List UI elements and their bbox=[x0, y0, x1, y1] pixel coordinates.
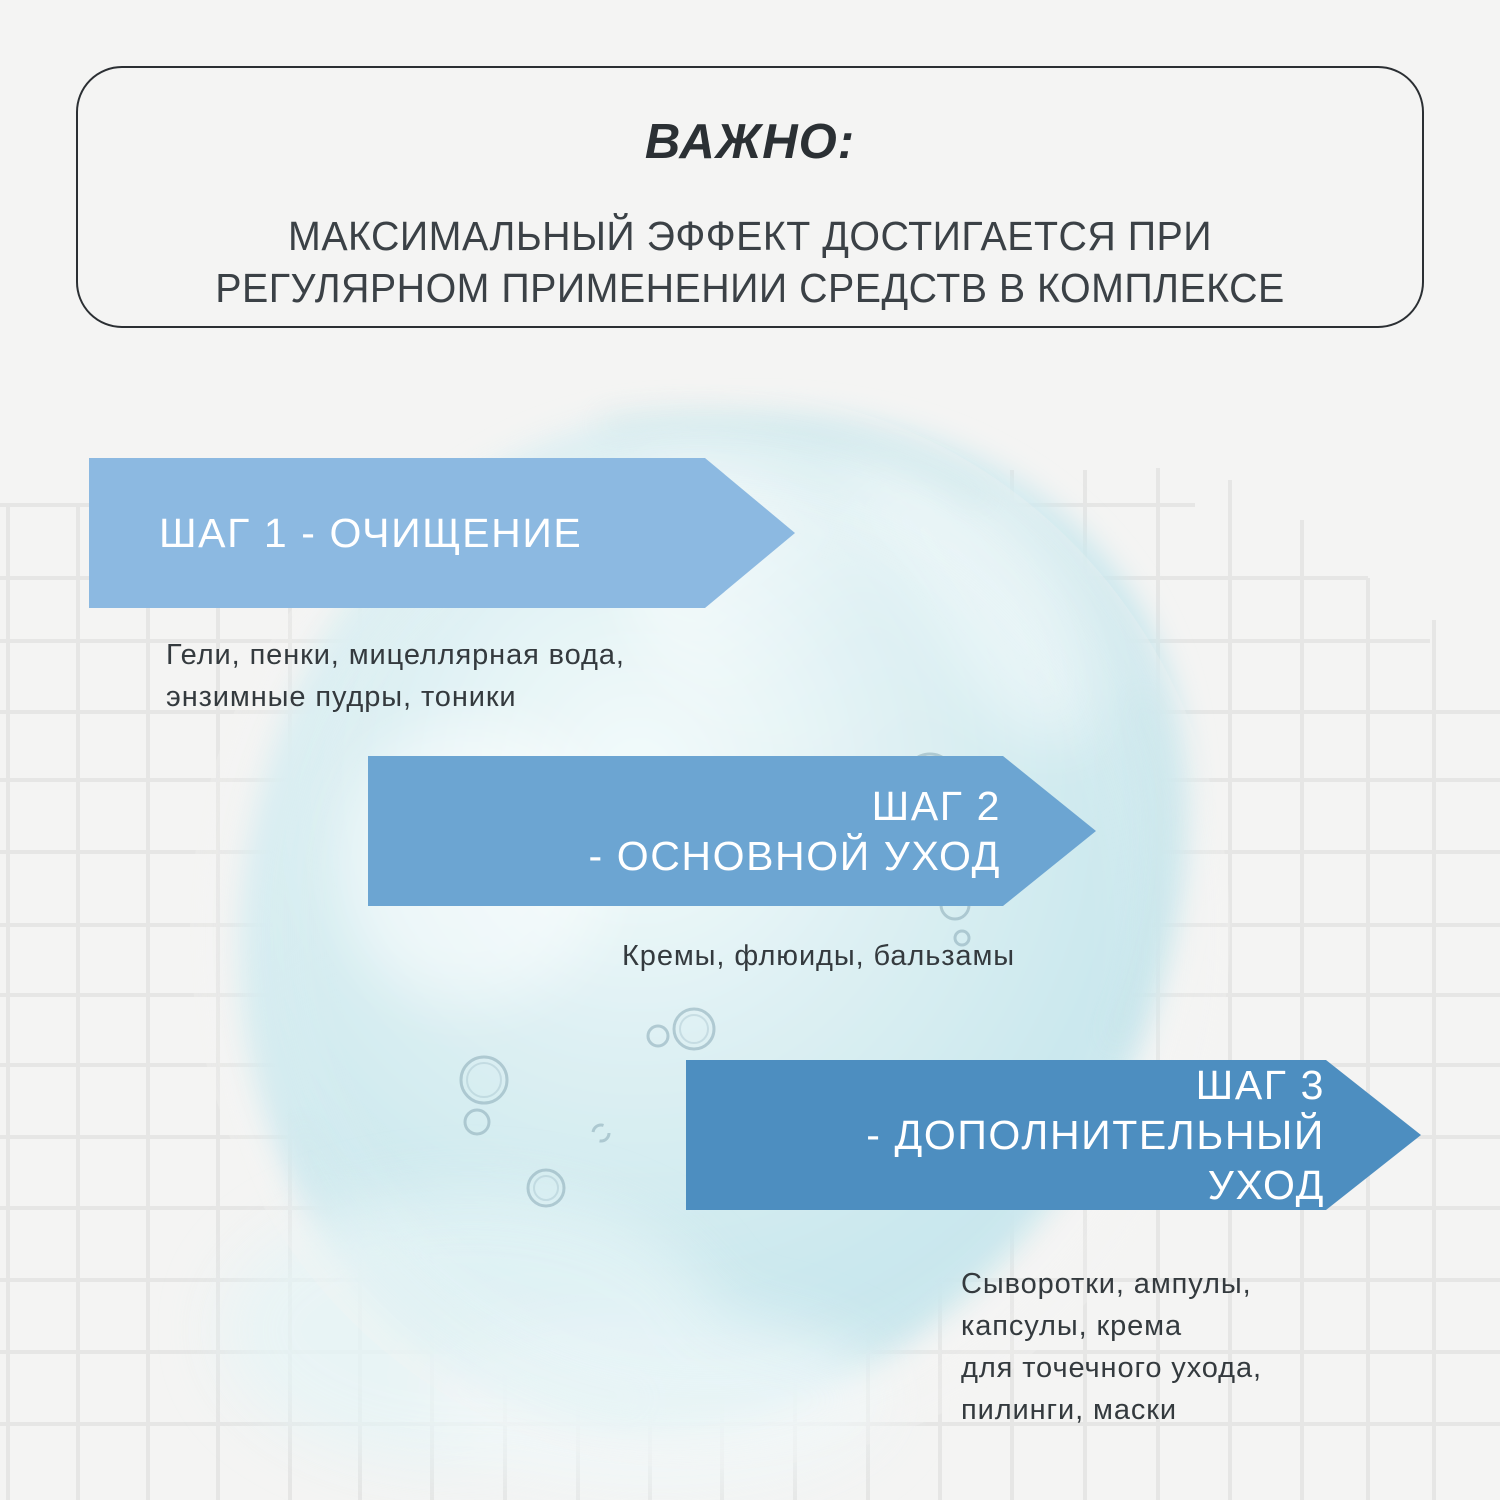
step-banner-1[interactable]: ШАГ 1 - ОЧИЩЕНИЕ bbox=[89, 458, 795, 608]
step-banner-3[interactable]: ШАГ 3 - ДОПОЛНИТЕЛЬНЫЙ УХОД bbox=[686, 1060, 1421, 1210]
step-banner-3-label: ШАГ 3 - ДОПОЛНИТЕЛЬНЫЙ УХОД bbox=[686, 1060, 1325, 1210]
step-banner-2[interactable]: ШАГ 2 - ОСНОВНОЙ УХОД bbox=[368, 756, 1096, 906]
step-description-3: Сыворотки, ампулы, капсулы, крема для то… bbox=[961, 1263, 1262, 1431]
important-notice-box: ВАЖНО: МАКСИМАЛЬНЫЙ ЭФФЕКТ ДОСТИГАЕТСЯ П… bbox=[76, 66, 1424, 328]
page-title: ВАЖНО: bbox=[645, 118, 855, 167]
step-description-1: Гели, пенки, мицеллярная вода, энзимные … bbox=[166, 634, 625, 718]
step-description-2: Кремы, флюиды, бальзамы bbox=[622, 935, 1015, 977]
page-subtitle: МАКСИМАЛЬНЫЙ ЭФФЕКТ ДОСТИГАЕТСЯ ПРИ РЕГУ… bbox=[215, 211, 1285, 314]
step-banner-2-label: ШАГ 2 - ОСНОВНОЙ УХОД bbox=[368, 781, 1001, 881]
step-banner-1-label: ШАГ 1 - ОЧИЩЕНИЕ bbox=[159, 508, 795, 558]
